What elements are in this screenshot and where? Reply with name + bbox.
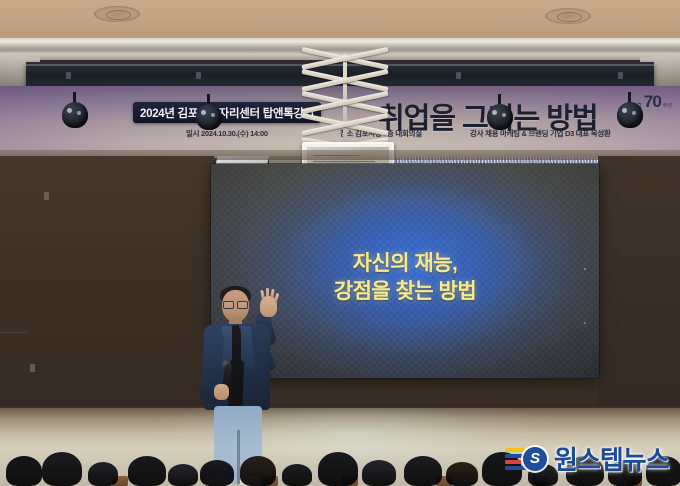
- logo-bar: [505, 448, 525, 452]
- audience-head: [6, 456, 42, 486]
- presenter-mic-hand: [214, 384, 229, 400]
- audience-head: [404, 456, 442, 486]
- logo-bar: [505, 466, 527, 470]
- audience-head: [42, 452, 82, 486]
- light-body: [196, 104, 222, 130]
- logo-letter: S: [530, 451, 540, 466]
- light-body: [617, 102, 643, 128]
- truss-bolt: [66, 72, 71, 79]
- projector-detail: [313, 161, 375, 162]
- wall-fixture: [44, 192, 49, 200]
- wall-fixture: [30, 364, 35, 372]
- ceiling: [0, 0, 680, 40]
- audience-head: [88, 462, 118, 486]
- audience-head: [362, 460, 396, 486]
- audience-head: [318, 452, 358, 486]
- audience-head: [168, 464, 198, 486]
- ceiling-vent-right: [545, 8, 591, 24]
- truss-bolt: [618, 72, 623, 79]
- light-lens: [622, 108, 627, 113]
- light-lens: [632, 111, 636, 115]
- logo-circle-icon: S: [523, 447, 547, 471]
- light-lens: [492, 110, 497, 115]
- light-body: [62, 102, 88, 128]
- audience-head: [282, 464, 312, 486]
- wall-left: [0, 156, 214, 424]
- truss-bolt: [196, 72, 201, 79]
- banner-pill-label: 2024년 김포시일자리센터 탑앤톡강연: [140, 105, 314, 121]
- light-lens: [77, 111, 81, 115]
- audience-head: [200, 460, 234, 486]
- onestepnews-logo-icon: S: [505, 444, 549, 474]
- anniversary-suffix: 주년: [663, 102, 672, 109]
- watermark-text: 원스텝뉴스: [554, 440, 669, 477]
- presenter-finger: [274, 293, 280, 302]
- stage-light-4: [617, 102, 643, 132]
- stage-light-2: [196, 104, 222, 134]
- ceiling-vent-left: [94, 6, 140, 22]
- wall-right: [598, 156, 680, 424]
- anniversary-number: 70: [644, 92, 661, 112]
- logo-bar: [505, 460, 521, 464]
- onestepnews-watermark: S 원스텝뉴스: [505, 440, 669, 477]
- presenter-finger: [260, 290, 265, 299]
- light-body: [487, 104, 513, 130]
- light-lens: [67, 108, 72, 113]
- stage-light-1: [62, 102, 88, 132]
- banner-subtitle-pill: 2024년 김포시일자리센터 탑앤톡강연: [133, 102, 321, 123]
- glasses-icon: [223, 301, 248, 307]
- audience-head: [240, 456, 276, 486]
- photo-scene: 2024년 김포시일자리센터 탑앤톡강연 취업을 그리는 방법 일시 2024.…: [0, 0, 680, 486]
- light-lens: [201, 110, 206, 115]
- audience-head: [446, 462, 478, 486]
- light-lens: [211, 113, 215, 117]
- stage-light-3: [487, 104, 513, 134]
- truss-bolt: [456, 72, 461, 79]
- wall-trim: [0, 332, 26, 333]
- light-lens: [502, 113, 506, 117]
- audience-head: [128, 456, 166, 486]
- presenter-finger: [266, 288, 269, 297]
